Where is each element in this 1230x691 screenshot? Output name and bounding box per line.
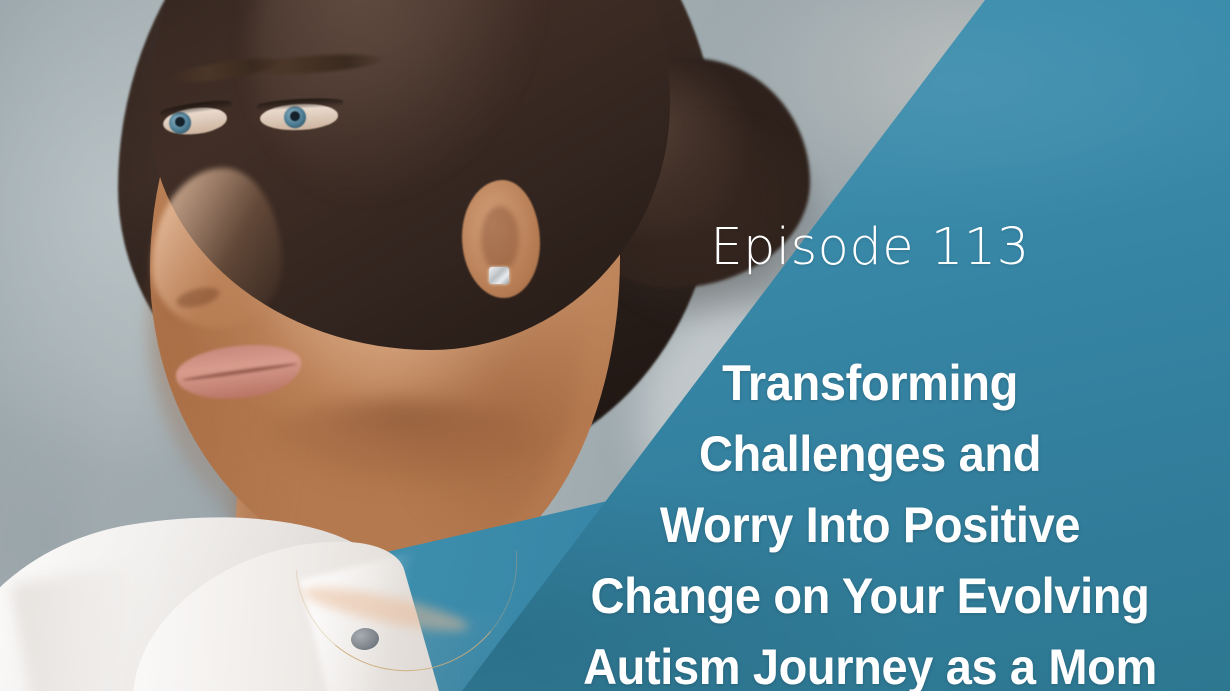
earring xyxy=(489,267,509,284)
episode-cover-art: Episode 113 Transforming Challenges and … xyxy=(0,0,1230,691)
ear-inner-shadow xyxy=(481,206,519,272)
jaw-shadow xyxy=(250,400,550,490)
